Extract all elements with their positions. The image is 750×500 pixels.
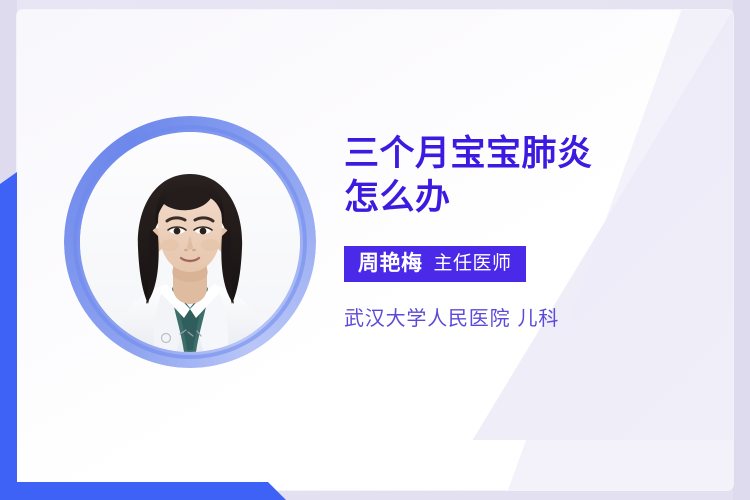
accent-bar-left — [0, 172, 17, 500]
doctor-name: 周艳梅 — [358, 253, 423, 274]
avatar — [80, 132, 300, 352]
page-title: 三个月宝宝肺炎 怎么办 — [344, 132, 674, 220]
doctor-name-badge: 周艳梅 主任医师 — [344, 246, 526, 282]
doctor-rank: 主任医师 — [434, 254, 512, 273]
thumbnail-card-canvas: 三个月宝宝肺炎 怎么办 周艳梅 主任医师 武汉大学人民医院 儿科 — [0, 0, 750, 500]
doctor-portrait — [64, 116, 316, 368]
accent-bar-bottom — [0, 482, 286, 500]
text-column: 三个月宝宝肺炎 怎么办 周艳梅 主任医师 武汉大学人民医院 儿科 — [344, 132, 674, 331]
doctor-affiliation: 武汉大学人民医院 儿科 — [344, 302, 674, 331]
